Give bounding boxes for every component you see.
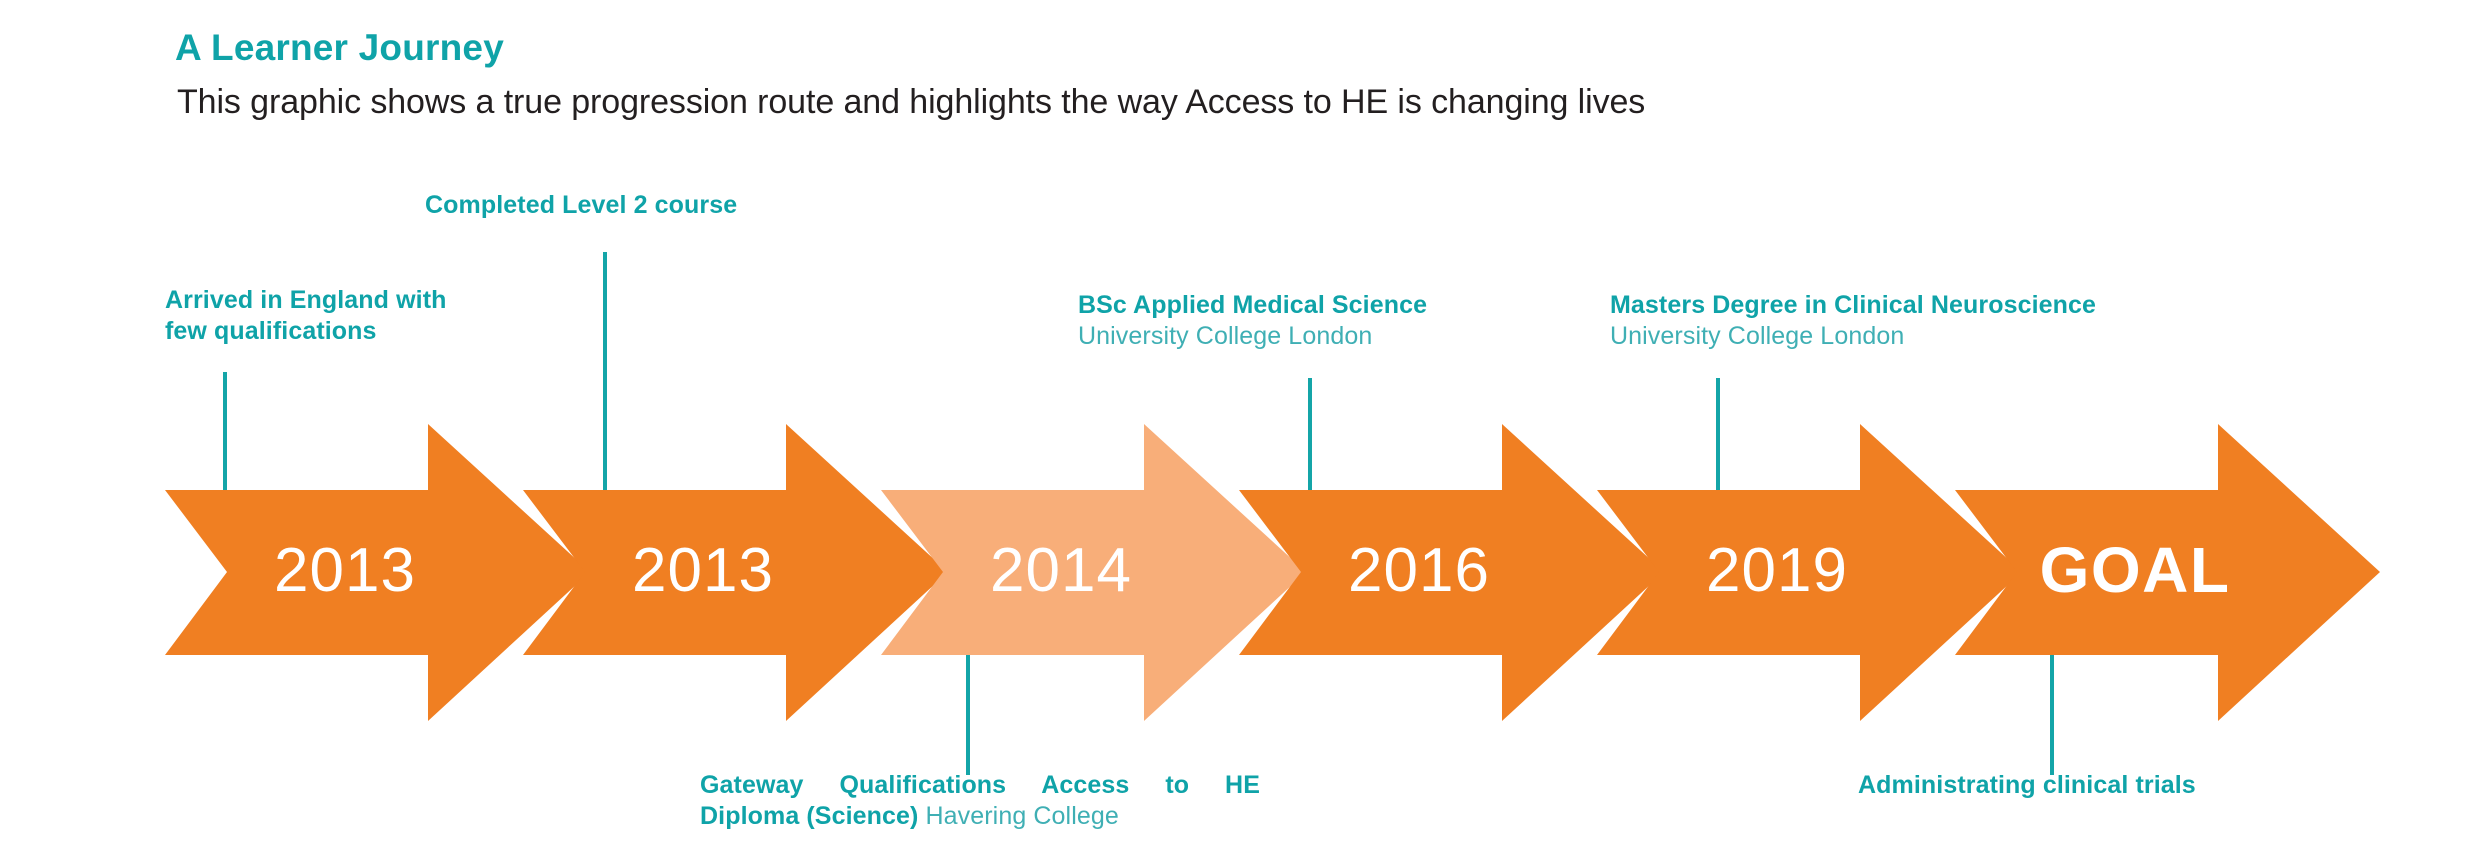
annotation-arrived-line1: Arrived in England with [165,285,585,316]
timeline-step-label-3: 2014 [911,540,1211,602]
timeline-step-label-5: 2019 [1627,540,1927,602]
infographic-canvas: A Learner Journey This graphic shows a t… [0,0,2480,868]
annotation-bsc-subtitle: University College London [1078,321,1638,352]
annotation-masters-title: Masters Degree in Clinical Neuroscience [1610,290,2310,321]
annotation-completed-level2-line1: Completed Level 2 course [425,190,945,221]
annotation-gateway-line1: Gateway Qualifications Access to HE [700,770,1260,801]
timeline-step-label-6: GOAL [1985,538,2285,602]
annotation-gateway-line2-bold: Diploma (Science) [700,802,918,830]
timeline-step-label-2: 2013 [553,540,853,602]
annotation-arrived: Arrived in England with few qualificatio… [165,285,585,346]
annotation-masters: Masters Degree in Clinical Neuroscience … [1610,290,2310,351]
timeline-step-label-4: 2016 [1269,540,1569,602]
step-label-layer: 2013 2013 2014 2016 2019 GOAL [0,0,2480,868]
annotation-bsc: BSc Applied Medical Science University C… [1078,290,1638,351]
annotation-clinical-trials-line1: Administrating clinical trials [1858,770,2378,801]
annotation-gateway-line2: Diploma (Science) Havering College [700,801,1260,832]
annotation-gateway: Gateway Qualifications Access to HE Dipl… [700,770,1260,831]
annotation-bsc-title: BSc Applied Medical Science [1078,290,1638,321]
annotation-clinical-trials: Administrating clinical trials [1858,770,2378,801]
annotation-arrived-line2: few qualifications [165,316,585,347]
timeline-step-label-1: 2013 [195,540,495,602]
annotation-gateway-line2-sub: Havering College [918,802,1118,830]
annotation-completed-level2: Completed Level 2 course [425,190,945,221]
annotation-masters-subtitle: University College London [1610,321,2310,352]
